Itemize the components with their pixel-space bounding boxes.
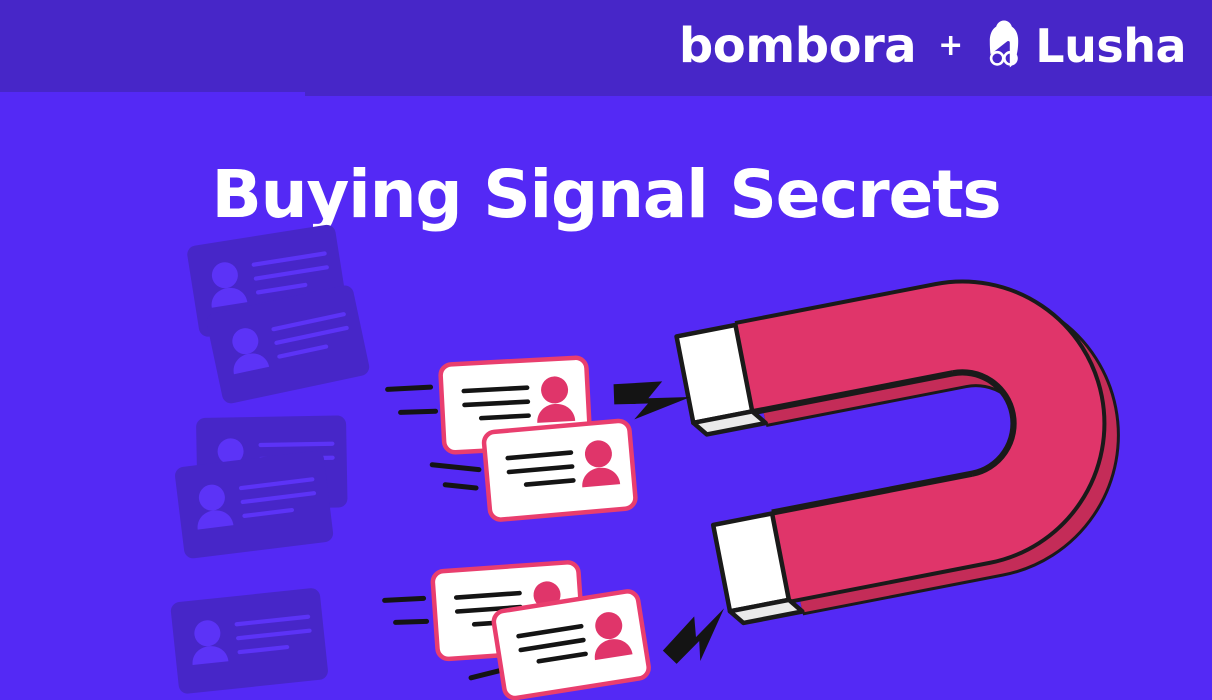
illustration [0,0,1212,700]
lightning-bolt-upper [611,378,691,423]
ghost-card-group-bottom [170,587,329,694]
ghost-card-group-top [186,224,371,405]
promo-banner: bombora + Lusha Buying Signal [0,0,1212,700]
speed-lines-middle [429,462,481,491]
magnet-icon [677,266,1097,625]
speed-lines-upper [385,384,438,415]
contact-card-upper-front [483,420,636,520]
ghost-card-group-middle [174,415,348,559]
